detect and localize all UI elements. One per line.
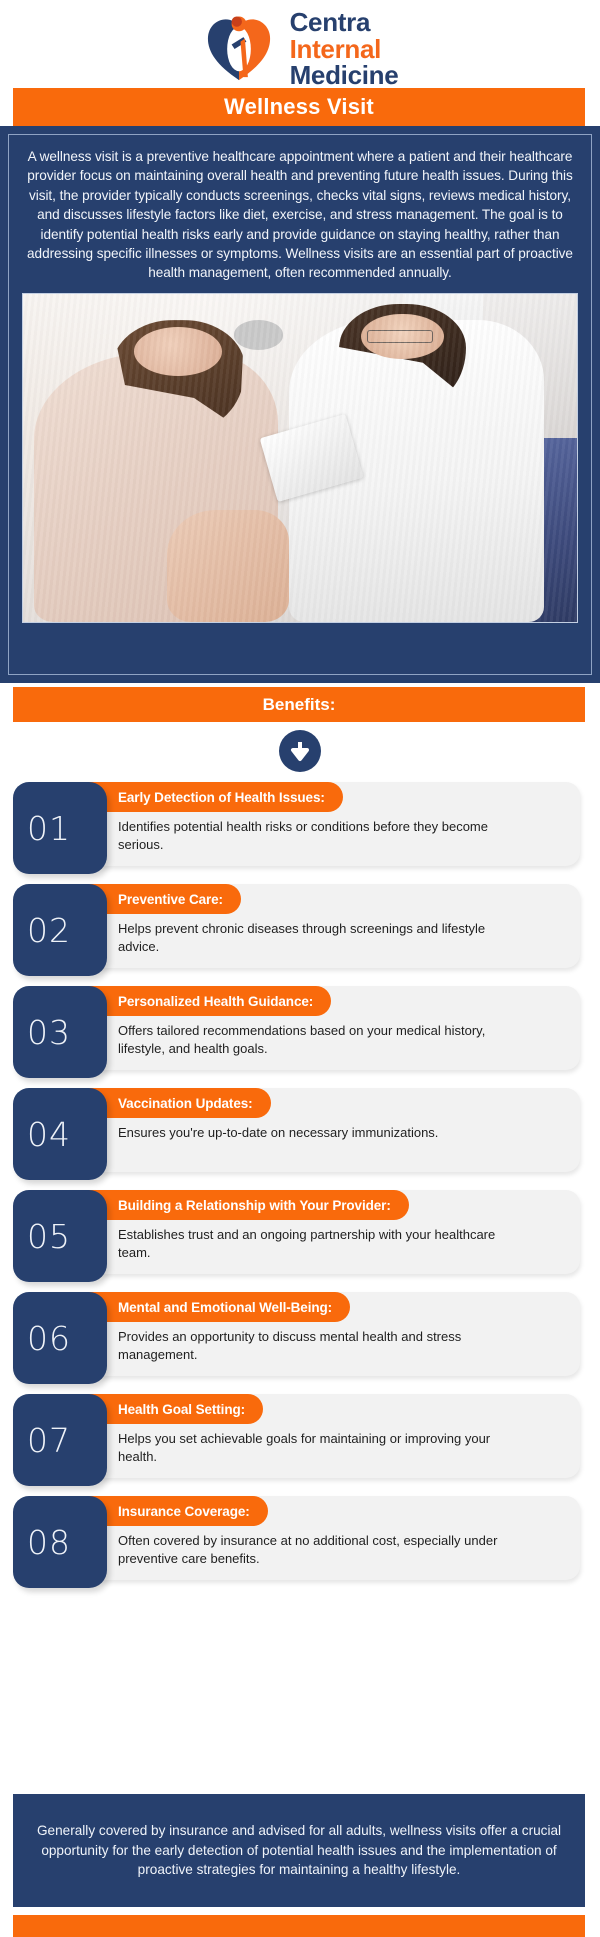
benefit-number: 08 [27, 1523, 71, 1562]
benefit-title-pill: Mental and Emotional Well-Being: [68, 1292, 350, 1322]
footer-panel: Generally covered by insurance and advis… [13, 1794, 585, 1907]
benefit-item: Vaccination Updates:Ensures you're up-to… [0, 1088, 600, 1180]
benefit-item: Insurance Coverage:Often covered by insu… [0, 1496, 600, 1588]
benefit-title: Health Goal Setting: [118, 1402, 245, 1417]
benefit-number-badge: 08 [13, 1496, 107, 1588]
brand-wordmark: Centra Internal Medicine [290, 9, 399, 89]
benefit-item: Personalized Health Guidance:Offers tail… [0, 986, 600, 1078]
benefit-number: 01 [27, 809, 71, 848]
page-title-bar: Wellness Visit [13, 88, 585, 126]
benefit-title: Mental and Emotional Well-Being: [118, 1300, 332, 1315]
intro-paragraph: A wellness visit is a preventive healthc… [22, 147, 578, 283]
page-title: Wellness Visit [224, 94, 374, 120]
benefit-number: 06 [27, 1319, 71, 1358]
intro-panel: A wellness visit is a preventive healthc… [0, 126, 600, 683]
footer-paragraph: Generally covered by insurance and advis… [35, 1821, 563, 1880]
benefit-item: Health Goal Setting:Helps you set achiev… [0, 1394, 600, 1486]
benefit-description: Ensures you're up-to-date on necessary i… [118, 1124, 518, 1142]
benefit-title-pill: Early Detection of Health Issues: [68, 782, 343, 812]
benefit-item: Mental and Emotional Well-Being:Provides… [0, 1292, 600, 1384]
doctor-with-tablet-consulting-seated-patient-photo [22, 293, 578, 623]
benefits-list: Early Detection of Health Issues:Identif… [0, 782, 600, 1598]
benefits-header-label: Benefits: [263, 695, 336, 715]
benefits-header-bar: Benefits: [13, 687, 585, 722]
brand-line-2: Internal [290, 36, 399, 63]
benefit-description: Provides an opportunity to discuss menta… [118, 1328, 518, 1363]
benefit-title: Preventive Care: [118, 892, 223, 907]
benefit-number: 05 [27, 1217, 71, 1256]
benefit-number-badge: 04 [13, 1088, 107, 1180]
benefit-number: 02 [27, 911, 71, 950]
benefit-number-badge: 03 [13, 986, 107, 1078]
benefit-description: Helps prevent chronic diseases through s… [118, 920, 518, 955]
two-people-heart-logo-icon [202, 12, 276, 86]
benefit-number-badge: 02 [13, 884, 107, 976]
benefit-item: Early Detection of Health Issues:Identif… [0, 782, 600, 874]
benefit-number-badge: 06 [13, 1292, 107, 1384]
infographic-page: Centra Internal Medicine Wellness Visit … [0, 0, 600, 1937]
benefit-description: Offers tailored recommendations based on… [118, 1022, 518, 1057]
benefit-title-pill: Building a Relationship with Your Provid… [68, 1190, 409, 1220]
benefit-description: Identifies potential health risks or con… [118, 818, 518, 853]
benefit-title-pill: Personalized Health Guidance: [68, 986, 331, 1016]
benefit-description: Helps you set achievable goals for maint… [118, 1430, 518, 1465]
brand-line-1: Centra [290, 9, 399, 36]
benefit-title: Personalized Health Guidance: [118, 994, 313, 1009]
benefit-item: Preventive Care:Helps prevent chronic di… [0, 884, 600, 976]
intro-inner-frame: A wellness visit is a preventive healthc… [8, 134, 592, 675]
benefit-description: Often covered by insurance at no additio… [118, 1532, 518, 1567]
benefit-title: Insurance Coverage: [118, 1504, 250, 1519]
benefit-item: Building a Relationship with Your Provid… [0, 1190, 600, 1282]
benefit-number: 04 [27, 1115, 71, 1154]
benefit-title: Building a Relationship with Your Provid… [118, 1198, 391, 1213]
brand-line-3: Medicine [290, 62, 399, 89]
benefit-number-badge: 05 [13, 1190, 107, 1282]
benefit-title: Early Detection of Health Issues: [118, 790, 325, 805]
benefit-number-badge: 01 [13, 782, 107, 874]
arrow-down-container [0, 730, 600, 772]
benefit-number-badge: 07 [13, 1394, 107, 1486]
arrow-down-icon [279, 730, 321, 772]
bottom-accent-bar [13, 1915, 585, 1937]
brand-logo: Centra Internal Medicine [0, 0, 600, 92]
benefit-number: 03 [27, 1013, 71, 1052]
benefit-title: Vaccination Updates: [118, 1096, 253, 1111]
benefit-description: Establishes trust and an ongoing partner… [118, 1226, 518, 1261]
benefit-number: 07 [27, 1421, 71, 1460]
